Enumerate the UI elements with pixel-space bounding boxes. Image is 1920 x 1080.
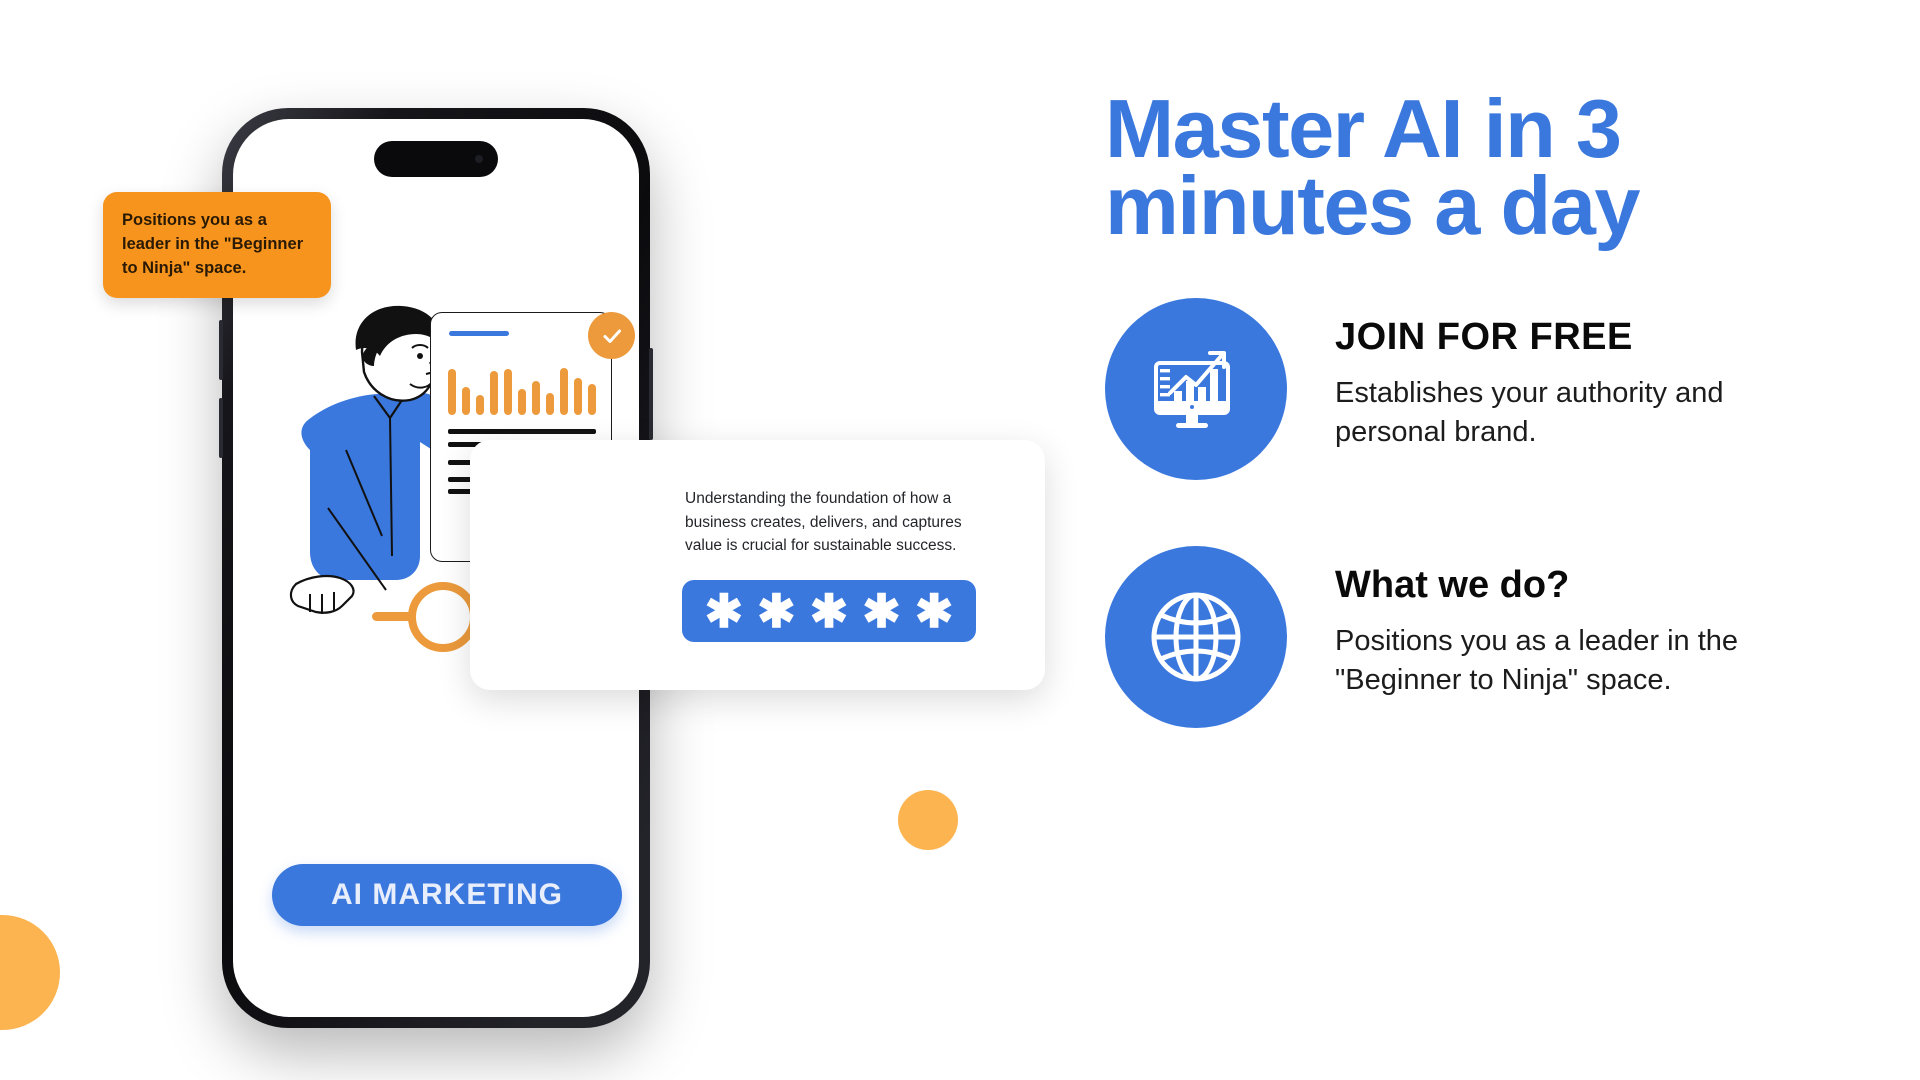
feature-text-block: JOIN FOR FREE Establishes your authority… (1335, 298, 1755, 451)
feature-item-join-for-free: JOIN FOR FREE Establishes your authority… (1105, 298, 1865, 480)
check-icon (599, 323, 625, 349)
feature-title: JOIN FOR FREE (1335, 318, 1755, 358)
ai-marketing-button[interactable]: AI MARKETING (272, 864, 622, 926)
info-card: Understanding the foundation of how a bu… (470, 440, 1045, 690)
globe-icon (1105, 546, 1287, 728)
password-asterisk: ✱ (915, 591, 954, 631)
dynamic-island (374, 141, 498, 177)
feature-title: What we do? (1335, 566, 1755, 606)
feature-item-what-we-do: What we do? Positions you as a leader in… (1105, 546, 1865, 728)
feature-description: Establishes your authority and personal … (1335, 374, 1755, 451)
feature-list: JOIN FOR FREE Establishes your authority… (1105, 298, 1865, 728)
feature-text-block: What we do? Positions you as a leader in… (1335, 546, 1755, 699)
bar-chart (448, 353, 598, 415)
magnifying-glass-icon (408, 582, 478, 652)
page-title: Master AI in 3 minutes a day (1105, 90, 1865, 244)
decorative-circle-middle (898, 790, 958, 850)
feature-description: Positions you as a leader in the "Beginn… (1335, 622, 1755, 699)
card-title-rule (449, 331, 509, 336)
check-badge (588, 312, 635, 359)
password-asterisk: ✱ (757, 591, 796, 631)
analytics-monitor-glyph (1144, 337, 1248, 441)
analytics-monitor-icon (1105, 298, 1287, 480)
front-camera-icon (475, 155, 483, 163)
phone-volume-down-button (219, 398, 223, 458)
password-asterisk: ✱ (810, 591, 849, 631)
phone-volume-up-button (219, 320, 223, 380)
content-column: Master AI in 3 minutes a day (1105, 90, 1865, 794)
phone-power-button (649, 348, 653, 440)
password-asterisk: ✱ (705, 591, 744, 631)
globe-glyph (1144, 585, 1248, 689)
tooltip-callout: Positions you as a leader in the "Beginn… (103, 192, 331, 298)
decorative-circle-bottom-left (0, 915, 60, 1030)
tooltip-text: Positions you as a leader in the "Beginn… (122, 211, 303, 277)
slide-canvas: Positions you as a leader in the "Beginn… (0, 0, 1920, 1080)
password-asterisk: ✱ (862, 591, 901, 631)
password-input[interactable]: ✱ ✱ ✱ ✱ ✱ (682, 580, 976, 642)
info-card-paragraph: Understanding the foundation of how a bu… (685, 487, 995, 558)
